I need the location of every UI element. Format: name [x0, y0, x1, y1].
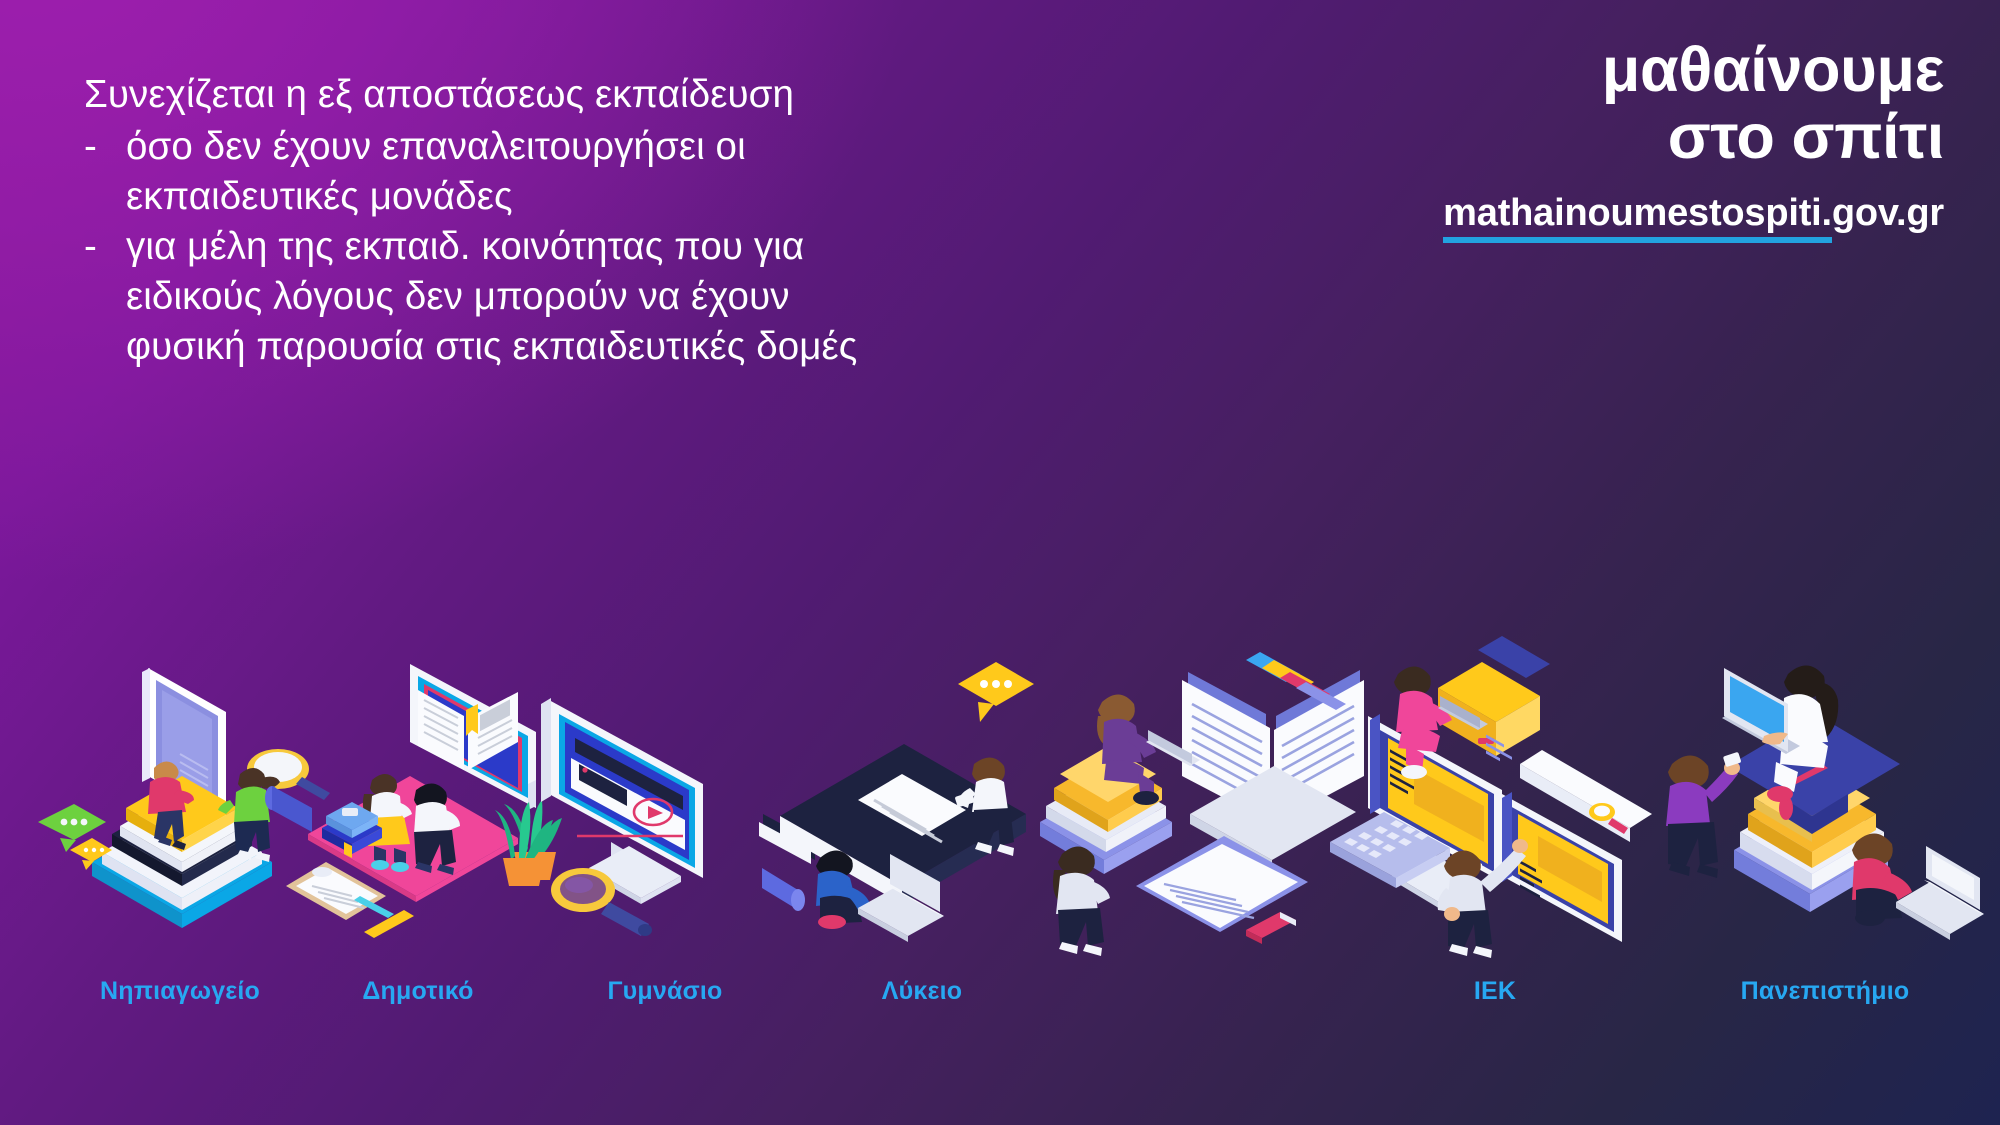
- illustration-dark-book-students: [762, 646, 1082, 946]
- bullet-2-text: για μέλη της εκπαιδ. κοινότητας που για …: [126, 222, 914, 372]
- brand-line-1: μαθαίνουμε: [1443, 38, 1944, 103]
- scene-lykeio: Λύκειο: [762, 646, 1082, 946]
- brand-url-rest: gov.gr: [1832, 192, 1944, 234]
- copy-bullet-1: - όσο δεν έχουν επαναλειτουργήσει οι εκπ…: [84, 122, 914, 222]
- slide-root: Συνεχίζεται η εξ αποστάσεως εκπαίδευση -…: [0, 0, 2000, 1125]
- scene-lykeio-books: Λύκειο: [1040, 646, 1370, 946]
- scene-label-lykeio: Λύκειο: [762, 977, 1082, 1006]
- brand-url-underlined: mathainoumestospiti.: [1443, 192, 1832, 243]
- copy-bullet-2: - για μέλη της εκπαιδ. κοινότητας που γι…: [84, 222, 914, 372]
- brand-url[interactable]: mathainoumestospiti.gov.gr: [1443, 192, 1944, 235]
- bullet-1-text: όσο δεν έχουν επαναλειτουργήσει οι εκπαι…: [126, 122, 914, 222]
- brand-line-2: στο σπίτι: [1443, 105, 1944, 170]
- brand-block: μαθαίνουμε στο σπίτι mathainoumestospiti…: [1443, 38, 1944, 235]
- bullet-dash-icon: -: [84, 122, 106, 222]
- illustration-monitors-keyboard-code: [1330, 646, 1660, 946]
- body-copy: Συνεχίζεται η εξ αποστάσεως εκπαίδευση -…: [84, 70, 914, 372]
- illustration-bookstack-openbook-tablet: [1040, 646, 1370, 946]
- scene-label-iek: ΙΕΚ: [1330, 977, 1660, 1006]
- scene-panepistimio: Πανεπιστήμιο: [1660, 646, 1990, 946]
- illustration-graduation-cap-books-laptop: [1660, 646, 1990, 946]
- copy-lead: Συνεχίζεται η εξ αποστάσεως εκπαίδευση: [84, 70, 914, 120]
- education-levels-strip: Νηπιαγωγείο: [0, 598, 2000, 1018]
- bullet-dash-icon: -: [84, 222, 106, 372]
- scene-iek: ΙΕΚ: [1330, 646, 1660, 946]
- scene-label-panepistimio: Πανεπιστήμιο: [1660, 977, 1990, 1006]
